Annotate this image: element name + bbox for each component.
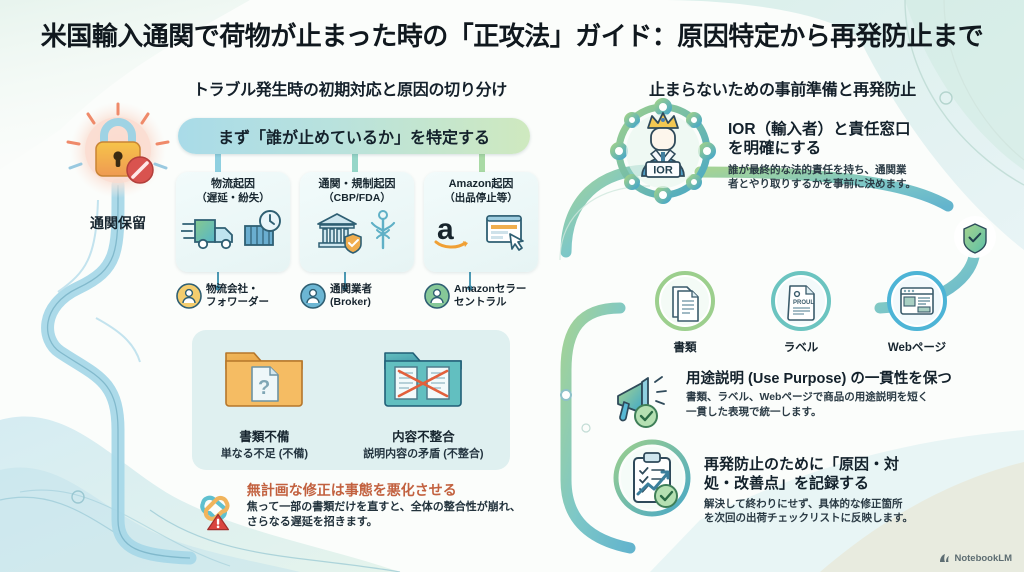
owner-forwarder[interactable]: 物流会社・ フォワーダー [176, 283, 290, 309]
caduceus-icon [366, 208, 400, 254]
ior-badge-text: IOR [653, 165, 673, 177]
owner-label-line1: Amazonセラー [454, 283, 526, 296]
doc-issue-sub: 説明内容の矛盾 (不整合) [363, 445, 483, 461]
responsible-party-row: 物流会社・ フォワーダー 通関業者 (Broker) Amazonセラー [176, 283, 538, 309]
use-purpose-body-line2: 一貫した表現で統一します。 [686, 405, 952, 420]
owner-label-line1: 通関業者 [330, 283, 372, 296]
cause-title: Amazon起因 [449, 178, 514, 192]
cause-card-row: 物流起因 （遅延・紛失） [176, 172, 538, 272]
identify-blocker-banner: まず「誰が止めているか」を特定する [178, 118, 530, 154]
record-block: 再発防止のために「原因・対 処・改善点」を記録する 解決して終わりにせず、具体的… [618, 448, 1018, 526]
svg-text:a: a [437, 213, 454, 246]
person-circle-icon [424, 283, 450, 309]
cause-card-amazon[interactable]: Amazon起因 （出品停止等） a [424, 172, 538, 272]
doc-issue-missing[interactable]: ? 書類不備 単なる不足 (不備) [218, 339, 310, 461]
owner-amazon-seller-central[interactable]: Amazonセラー セントラル [424, 283, 538, 309]
label-icon: PROUL [768, 270, 834, 332]
cause-title: 通関・規制起因 [319, 178, 396, 192]
ior-body-line2: 者とやり取りするかを事前に決めます。 [728, 177, 916, 192]
cause-card-customs[interactable]: 通関・規制起因 （CBP/FDA） [300, 172, 414, 272]
record-title-line1: 再発防止のために「原因・対 [704, 456, 913, 475]
clock-cargo-icon [241, 208, 285, 254]
knot-alert-icon [196, 482, 239, 540]
cause-subtitle: （CBP/FDA） [323, 192, 391, 205]
folder-conflict-icon [377, 339, 469, 417]
ior-king-icon: IOR [604, 92, 722, 210]
owner-broker[interactable]: 通関業者 (Broker) [300, 283, 414, 309]
shield-check-icon [964, 224, 986, 253]
node-label-tag[interactable]: PROUL ラベル [752, 270, 850, 355]
cause-subtitle: （遅延・紛失） [196, 192, 270, 205]
node-documents[interactable]: 書類 [636, 270, 734, 355]
doc-issue-title: 内容不整合 [363, 426, 483, 445]
customs-hold-badge: 通関保留 [48, 98, 188, 233]
warning-callout: 無計画な修正は事態を悪化させる 焦って一部の書類だけを直すと、全体の整合性が崩れ… [196, 482, 526, 540]
amazon-logo-icon: a [433, 208, 481, 254]
document-issue-panel: ? 書類不備 単なる不足 (不備) 内容不整合 [192, 330, 510, 470]
consistency-node-row: 書類 PROUL ラベル [636, 270, 966, 356]
browser-click-icon [483, 208, 529, 254]
documents-icon [652, 270, 718, 332]
webpage-icon [884, 270, 950, 332]
clipboard-chart-check-icon [604, 430, 700, 526]
node-label: Webページ [868, 339, 966, 355]
use-purpose-body-line1: 書類、ラベル、Webページで商品の用途説明を短く [686, 390, 952, 405]
owner-label-line2: (Broker) [330, 296, 372, 309]
use-purpose-title: 用途説明 (Use Purpose) の一貫性を保つ [686, 370, 952, 388]
government-building-icon [314, 208, 364, 254]
notebooklm-icon [939, 553, 950, 564]
ior-title-line2: を明確にする [728, 139, 916, 158]
page-title: 米国輸入通関で荷物が止まった時の「正攻法」ガイド：原因特定から再発防止まで [0, 16, 1024, 53]
doc-issue-title: 書類不備 [218, 426, 310, 445]
label-badge-text: PROUL [793, 300, 814, 306]
use-purpose-block: 用途説明 (Use Purpose) の一貫性を保つ 書類、ラベル、Webページ… [610, 370, 1010, 430]
svg-text:?: ? [258, 377, 270, 399]
ior-title-line1: IOR（輸入者）と責任窓口 [728, 120, 916, 139]
megaphone-check-icon [610, 368, 684, 430]
node-label: ラベル [752, 339, 850, 355]
watermark-label: NotebookLM [954, 553, 1012, 564]
owner-label-line2: セントラル [454, 296, 526, 309]
person-circle-icon [300, 283, 326, 309]
section-header-left: トラブル発生時の初期対応と原因の切り分け [130, 76, 570, 100]
owner-label-line1: 物流会社・ [206, 283, 269, 296]
lock-blocked-icon [48, 98, 188, 206]
notebooklm-watermark: NotebookLM [939, 553, 1012, 564]
warning-title: 無計画な修正は事態を悪化させる [247, 482, 526, 499]
node-webpage[interactable]: Webページ [868, 270, 966, 355]
infographic-canvas: 米国輸入通関で荷物が止まった時の「正攻法」ガイド：原因特定から再発防止まで トラ… [0, 0, 1024, 572]
cause-subtitle: （出品停止等） [444, 192, 518, 205]
cause-title: 物流起因 [211, 178, 255, 192]
owner-label-line2: フォワーダー [206, 296, 269, 309]
doc-issue-sub: 単なる不足 (不備) [218, 445, 310, 461]
cause-card-logistics[interactable]: 物流起因 （遅延・紛失） [176, 172, 290, 272]
folder-question-icon: ? [218, 339, 310, 417]
person-circle-icon [176, 283, 202, 309]
ior-body-line1: 誰が最終的な法的責任を持ち、通関業 [728, 163, 916, 178]
customs-hold-label: 通関保留 [48, 213, 188, 233]
record-title-line2: 処・改善点」を記録する [704, 475, 913, 494]
node-label: 書類 [636, 339, 734, 355]
ior-block: IOR IOR（輸入者）と責任窓口 を明確にする 誰が最終的な法的責任を持ち、通… [618, 106, 1008, 210]
warning-body: 焦って一部の書類だけを直すと、全体の整合性が崩れ、さらなる遅延を招きます。 [247, 500, 526, 530]
record-body-line1: 解決して終わりにせず、具体的な修正箇所 [704, 497, 913, 512]
truck-icon [181, 208, 239, 254]
doc-issue-inconsistent[interactable]: 内容不整合 説明内容の矛盾 (不整合) [363, 339, 483, 461]
record-body-line2: を次回の出荷チェックリストに反映します。 [704, 511, 913, 526]
